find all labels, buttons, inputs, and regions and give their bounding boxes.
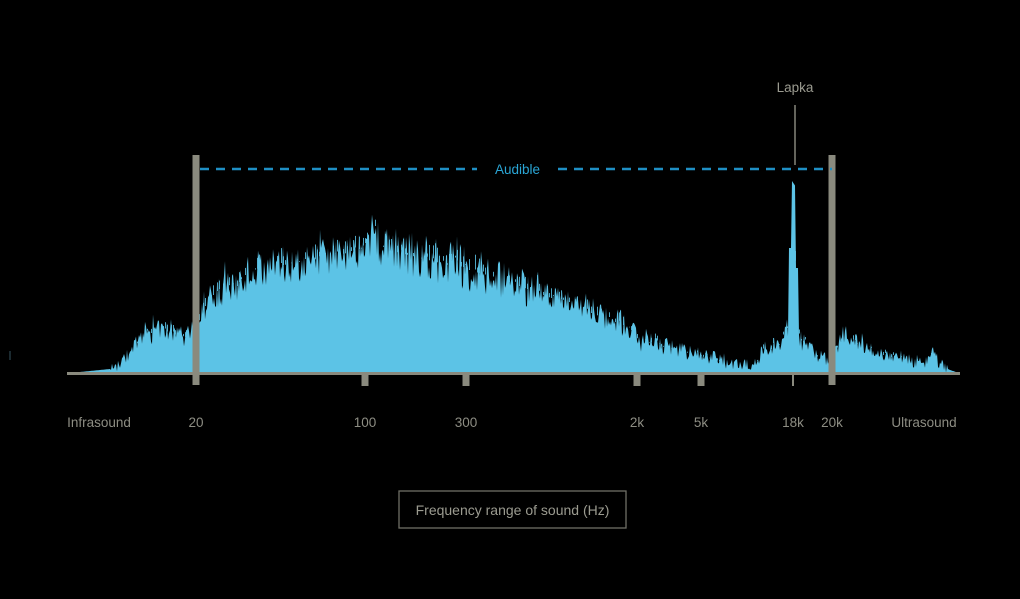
spectrum-spike bbox=[355, 236, 356, 248]
spectrum-spike bbox=[655, 334, 656, 338]
spectrum-spike bbox=[871, 347, 872, 348]
spectrum-spike bbox=[461, 262, 462, 267]
spectrum-spike bbox=[791, 263, 792, 275]
spectrum-spike bbox=[365, 238, 366, 243]
spectrum-spike bbox=[893, 352, 894, 355]
spectrum-spike bbox=[783, 332, 784, 335]
audible-label: Audible bbox=[495, 162, 540, 177]
spectrum-spike bbox=[799, 330, 800, 334]
spectrum-spike bbox=[547, 286, 548, 294]
axis-tick-300 bbox=[463, 373, 470, 386]
spectrum-spike bbox=[531, 286, 532, 288]
spectrum-spike bbox=[561, 290, 562, 299]
spectrum-spike bbox=[587, 300, 588, 309]
spectrum-spike bbox=[343, 249, 344, 254]
spectrum-spike bbox=[319, 252, 320, 256]
spectrum-spike bbox=[857, 344, 858, 345]
spectrum-spike bbox=[475, 255, 476, 270]
spectrum-spike bbox=[795, 251, 796, 261]
spectrum-spike bbox=[697, 351, 698, 353]
spectrum-spike bbox=[537, 275, 538, 290]
spectrum-spike bbox=[891, 354, 892, 357]
spectrum-spike bbox=[651, 338, 652, 342]
spectrum-spike bbox=[901, 356, 902, 357]
spectrum-spike bbox=[203, 303, 204, 311]
spectrum-spike bbox=[439, 256, 440, 263]
spectrum-spike bbox=[281, 248, 282, 263]
spectrum-spike bbox=[841, 339, 842, 342]
spectrum-spike bbox=[245, 268, 246, 275]
spectrum-spike bbox=[897, 357, 898, 358]
left-artifact bbox=[9, 351, 11, 360]
spectrum-spike bbox=[347, 246, 348, 250]
spectrum-spike bbox=[703, 355, 704, 357]
spectrum-spike bbox=[167, 325, 168, 332]
spectrum-spike bbox=[591, 307, 592, 313]
axis-tick-20 bbox=[193, 155, 200, 385]
spectrum-spike bbox=[647, 338, 648, 339]
spectrum-spike bbox=[255, 268, 256, 269]
axis-tick-label-20: 20 bbox=[188, 415, 203, 430]
spectrum-spike bbox=[325, 253, 326, 258]
spectrum-spike bbox=[147, 329, 148, 331]
spectrum-spike bbox=[523, 274, 524, 285]
spectrum-spike bbox=[615, 319, 616, 322]
spectrum-spike bbox=[719, 360, 720, 361]
spectrum-spike bbox=[443, 256, 444, 261]
spectrum-spike bbox=[695, 353, 696, 355]
spectrum-spike bbox=[477, 268, 478, 273]
spectrum-spike bbox=[385, 234, 386, 244]
spectrum-spike bbox=[383, 246, 384, 247]
spectrum-spike bbox=[853, 335, 854, 339]
spectrum-spike bbox=[173, 325, 174, 332]
axis-tick-label-300: 300 bbox=[455, 415, 478, 430]
spectrum-spike bbox=[433, 245, 434, 258]
spectrum-spike bbox=[527, 284, 528, 289]
spectrum-spike bbox=[449, 254, 450, 262]
spectrum-spike bbox=[247, 270, 248, 273]
spectrum-spike bbox=[785, 330, 786, 332]
spectrum-spike bbox=[259, 255, 260, 271]
spectrum-spike bbox=[763, 344, 764, 348]
spectrum-spike bbox=[917, 359, 918, 361]
axis-tick-20k bbox=[829, 155, 836, 385]
spectrum-spike bbox=[237, 281, 238, 287]
spectrum-spike bbox=[623, 317, 624, 325]
spectrum-spike bbox=[427, 254, 428, 257]
spectrum-spike bbox=[715, 357, 716, 358]
spectrum-spike bbox=[565, 300, 566, 304]
axis-tick-label-100: 100 bbox=[354, 415, 377, 430]
axis-tick-5k bbox=[698, 373, 705, 386]
spectrum-spike bbox=[515, 279, 516, 282]
lapka-label: Lapka bbox=[777, 80, 814, 95]
spectrum-spike bbox=[257, 258, 258, 269]
spectrum-spike bbox=[705, 353, 706, 354]
spectrum-spike bbox=[219, 281, 220, 289]
spectrum-spike bbox=[485, 268, 486, 275]
axis-tick-100 bbox=[362, 373, 369, 386]
spectrum-spike bbox=[451, 254, 452, 260]
spectrum-spike bbox=[185, 332, 186, 337]
spectrum-spike bbox=[233, 284, 234, 285]
spectrum-spike bbox=[701, 355, 702, 356]
spectrum-spike bbox=[229, 277, 230, 285]
frequency-spectrum-chart: 201003002k5k18k20k InfrasoundUltrasound … bbox=[0, 0, 1020, 599]
spectrum-spike bbox=[375, 220, 376, 226]
spectrum-spike bbox=[525, 277, 526, 288]
spectrum-spike bbox=[551, 288, 552, 298]
spectrum-spike bbox=[137, 342, 138, 344]
spectrum-spike bbox=[151, 329, 152, 333]
spectrum-spike bbox=[241, 277, 242, 279]
axis-baseline bbox=[67, 372, 960, 375]
spectrum-spike bbox=[657, 336, 658, 341]
spectrum-spike bbox=[429, 245, 430, 260]
spectrum-spike bbox=[929, 358, 930, 359]
spectrum-spike bbox=[661, 344, 662, 347]
spectrum-spike bbox=[359, 237, 360, 249]
spectrum-spike bbox=[837, 346, 838, 348]
spectrum-spike bbox=[367, 233, 368, 241]
spectrum-spike bbox=[345, 241, 346, 253]
spectrum-spike bbox=[283, 256, 284, 265]
spectrum-spike bbox=[771, 346, 772, 350]
spectrum-spike bbox=[351, 247, 352, 251]
spectrum-spike bbox=[155, 329, 156, 330]
spectrum-spike bbox=[135, 343, 136, 346]
spectrum-spike bbox=[183, 334, 184, 336]
spectrum-spike bbox=[773, 338, 774, 343]
spectrum-spike bbox=[601, 309, 602, 314]
spectrum-spike bbox=[629, 327, 630, 328]
spectrum-spike bbox=[447, 263, 448, 264]
spectrum-spike bbox=[787, 326, 788, 328]
spectrum-spike bbox=[389, 240, 390, 250]
spectrum-spike bbox=[669, 346, 670, 348]
spectrum-spike bbox=[569, 298, 570, 302]
spectrum-spike bbox=[563, 298, 564, 300]
spectrum-spike bbox=[649, 342, 650, 343]
visualization-root: 201003002k5k18k20k InfrasoundUltrasound … bbox=[0, 0, 1020, 599]
spectrum-spike bbox=[717, 358, 718, 360]
spectrum-spike bbox=[577, 296, 578, 305]
spectrum-spike bbox=[687, 352, 688, 353]
spectrum-spike bbox=[457, 250, 458, 261]
spectrum-spike bbox=[483, 265, 484, 272]
axis-tick-label-2k: 2k bbox=[630, 415, 645, 430]
axis-tick-2k bbox=[634, 373, 641, 386]
caption-text: Frequency range of sound (Hz) bbox=[416, 502, 610, 518]
spectrum-spike bbox=[453, 254, 454, 257]
spectrum-spike bbox=[217, 282, 218, 291]
spectrum-spike bbox=[801, 339, 802, 341]
spectrum-spike bbox=[803, 341, 804, 342]
spectrum-spike bbox=[239, 272, 240, 282]
spectrum-spike bbox=[519, 277, 520, 286]
spectrum-spike bbox=[617, 316, 618, 320]
spectrum-spike bbox=[479, 259, 480, 273]
axis-tick-label-20k: 20k bbox=[821, 415, 843, 430]
spectrum-spike bbox=[549, 293, 550, 297]
spectrum-spike bbox=[645, 339, 646, 340]
spectrum-spike bbox=[435, 243, 436, 258]
spectrum-spike bbox=[667, 343, 668, 345]
spectrum-spike bbox=[487, 267, 488, 275]
spectrum-spike bbox=[391, 239, 392, 251]
axis-edge-label-infrasound: Infrasound bbox=[67, 415, 131, 430]
spectrum-spike bbox=[211, 295, 212, 297]
spectrum-spike bbox=[559, 292, 560, 301]
spectrum-spike bbox=[213, 285, 214, 295]
spectrum-spike bbox=[779, 344, 780, 345]
spectrum-spike bbox=[555, 289, 556, 297]
spectrum-spike bbox=[543, 292, 544, 295]
spectrum-spike bbox=[397, 246, 398, 253]
spectrum-spike bbox=[805, 337, 806, 340]
spectrum-spike bbox=[223, 284, 224, 291]
spectrum-spike bbox=[305, 252, 306, 259]
spectrum-spike bbox=[339, 248, 340, 250]
spectrum-spike bbox=[291, 263, 292, 264]
spectrum-spike bbox=[637, 334, 638, 338]
spectrum-spike bbox=[361, 248, 362, 249]
spectrum-spike bbox=[757, 360, 758, 361]
spectrum-spike bbox=[437, 248, 438, 263]
axis-tick-18k bbox=[792, 373, 794, 386]
spectrum-spike bbox=[905, 359, 906, 361]
spectrum-spike bbox=[663, 346, 664, 347]
spectrum-spike bbox=[421, 258, 422, 259]
spectrum-spike bbox=[855, 335, 856, 341]
spectrum-spike bbox=[403, 239, 404, 251]
spectrum-spike bbox=[145, 331, 146, 332]
spectrum-spike bbox=[811, 347, 812, 349]
spectrum-spike bbox=[553, 295, 554, 296]
axis-tick-label-18k: 18k bbox=[782, 415, 804, 430]
spectrum-spike bbox=[885, 350, 886, 353]
spectrum-spike bbox=[285, 260, 286, 265]
spectrum-spike bbox=[353, 240, 354, 250]
spectrum-spike bbox=[363, 238, 364, 246]
spectrum-spike bbox=[619, 312, 620, 320]
spectrum-spike bbox=[171, 325, 172, 331]
spectrum-spike bbox=[777, 345, 778, 346]
spectrum-spike bbox=[317, 250, 318, 259]
spectrum-spike bbox=[931, 353, 932, 356]
spectrum-spike bbox=[407, 253, 408, 255]
spectrum-spike bbox=[175, 330, 176, 334]
spectrum-spike bbox=[205, 298, 206, 306]
spectrum-spike bbox=[455, 256, 456, 258]
axis-edge-label-ultrasound: Ultrasound bbox=[891, 415, 956, 430]
spectrum-spike bbox=[323, 252, 324, 258]
spectrum-spike bbox=[465, 264, 466, 265]
spectrum-spike bbox=[315, 245, 316, 260]
spectrum-spike bbox=[845, 331, 846, 337]
spectrum-spike bbox=[883, 352, 884, 355]
spectrum-spike bbox=[509, 276, 510, 283]
spectrum-spike bbox=[593, 310, 594, 311]
spectrum-spike bbox=[631, 326, 632, 330]
spectrum-spike bbox=[633, 329, 634, 332]
spectrum-spike bbox=[817, 355, 818, 356]
spectrum-spike bbox=[413, 253, 414, 256]
axis-tick-label-5k: 5k bbox=[694, 415, 709, 430]
spectrum-spike bbox=[277, 256, 278, 266]
spectrum-spike bbox=[609, 312, 610, 317]
spectrum-spike bbox=[299, 261, 300, 262]
spectrum-spike bbox=[163, 326, 164, 328]
spectrum-spike bbox=[333, 246, 334, 256]
spectrum-spike bbox=[899, 358, 900, 359]
spectrum-spike bbox=[405, 248, 406, 254]
spectrum-spike bbox=[337, 240, 338, 252]
spectrum-spike bbox=[469, 259, 470, 270]
spectrum-spike bbox=[401, 245, 402, 251]
spectrum-spike bbox=[463, 256, 464, 267]
spectrum-spike bbox=[493, 272, 494, 277]
spectrum-spike bbox=[165, 322, 166, 328]
spectrum-spike bbox=[597, 307, 598, 316]
spectrum-spike bbox=[575, 299, 576, 307]
spectrum-spike bbox=[539, 284, 540, 291]
